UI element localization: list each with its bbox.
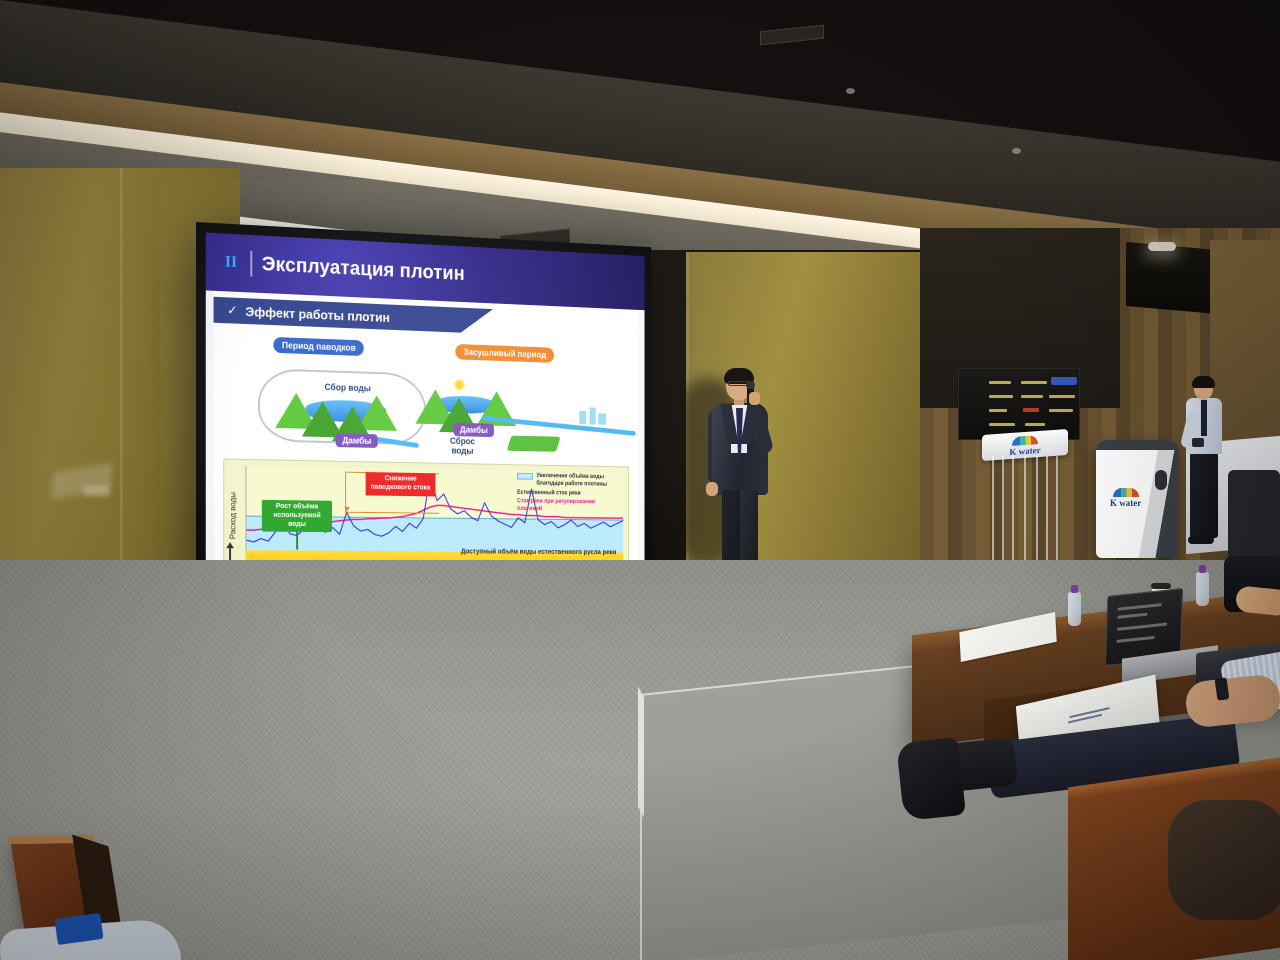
legend-item-natural-flow: Естественный сток реки bbox=[517, 490, 620, 499]
board-entry bbox=[1049, 409, 1073, 412]
board-entry bbox=[1025, 423, 1045, 426]
slide-header-divider bbox=[250, 251, 252, 277]
board-alert bbox=[1023, 408, 1039, 412]
kwater-logo-arc bbox=[1012, 435, 1038, 446]
audience-knee bbox=[1168, 800, 1280, 920]
lectern-legs bbox=[990, 456, 1060, 572]
release-line-2: воды bbox=[452, 446, 474, 456]
board-entry bbox=[1021, 395, 1043, 398]
label-dam-left: Дамбы bbox=[336, 433, 378, 448]
water-bottle bbox=[1068, 592, 1081, 626]
side-chair bbox=[1228, 470, 1280, 560]
laptop-ui-line bbox=[1117, 636, 1155, 643]
air-purifier-top bbox=[1096, 440, 1178, 450]
discharge-chart: Расход воды Снижение паводкового стока Р… bbox=[223, 459, 629, 570]
board-entry bbox=[989, 423, 1015, 426]
pill-flood-period: Период паводков bbox=[273, 337, 364, 356]
legend-swatch-band bbox=[517, 473, 533, 480]
slide-title: Эксплуатация плотин bbox=[262, 253, 465, 285]
conference-room-scene: II Эксплуатация плотин ✓ Эффект работы п… bbox=[0, 0, 1280, 960]
attendee-necktie bbox=[1201, 400, 1207, 436]
board-entry bbox=[989, 409, 1007, 412]
ceiling-light-dot bbox=[846, 88, 855, 94]
chart-legend: Увеличение объёма воды благодаря работе … bbox=[517, 473, 620, 517]
legend-label-dam-increase: Увеличение объёма воды благодаря работе … bbox=[536, 473, 619, 489]
check-icon: ✓ bbox=[227, 302, 238, 318]
board-entry bbox=[1021, 381, 1047, 384]
laptop-ui-line bbox=[1118, 603, 1162, 611]
farmland-icon bbox=[507, 436, 561, 452]
laptop-ui-line bbox=[1117, 613, 1147, 619]
air-purifier-vent bbox=[1155, 470, 1167, 490]
water-bottle bbox=[1196, 572, 1209, 606]
ceiling-vent bbox=[760, 25, 824, 46]
board-entry bbox=[989, 381, 1011, 384]
wall-reflection bbox=[84, 486, 110, 496]
slide-subtitle-text: Эффект работы плотин bbox=[245, 304, 389, 325]
attendee-shoe bbox=[1188, 536, 1214, 544]
presentation-slide: II Эксплуатация плотин ✓ Эффект работы п… bbox=[206, 233, 645, 570]
smartphone-icon bbox=[1192, 438, 1204, 447]
slide-subtitle-banner: ✓ Эффект работы плотин bbox=[214, 297, 493, 334]
slide-illustration: Сбор воды Дамбы Дамбы bbox=[214, 353, 638, 461]
audience-shoe bbox=[896, 737, 966, 821]
label-collect-water: Сбор воды bbox=[325, 382, 371, 393]
board-highlight bbox=[1051, 377, 1077, 385]
screen-surface: II Эксплуатация плотин ✓ Эффект работы п… bbox=[206, 233, 645, 570]
wall-speaker bbox=[1126, 242, 1218, 314]
chart-annotation-available-volume-text: Доступный объём воды естественного русла… bbox=[461, 549, 616, 556]
legend-item-dam-increase: Увеличение объёма воды благодаря работе … bbox=[517, 473, 620, 489]
release-line-1: Сброс bbox=[450, 436, 475, 446]
chart-plot-area: Снижение паводкового стока Рост объёма и… bbox=[246, 466, 624, 553]
chart-annotation-usage-growth: Рост объёма используемой воды bbox=[262, 500, 332, 533]
purifier-brand-label: K water bbox=[1110, 498, 1141, 508]
presenter-hand bbox=[749, 392, 760, 405]
pill-drought-period: Засушливый период bbox=[455, 344, 554, 363]
air-purifier: K water bbox=[1096, 440, 1178, 558]
label-release-water: Сброс воды bbox=[450, 436, 475, 456]
slide-section-badge: II bbox=[221, 252, 240, 273]
sun-icon bbox=[455, 380, 463, 389]
slide-body: ✓ Эффект работы плотин Период паводков З… bbox=[214, 291, 638, 562]
city-block-icon bbox=[579, 411, 586, 424]
label-dam-right: Дамбы bbox=[454, 423, 495, 437]
kwater-logo-arc bbox=[1113, 488, 1139, 497]
chart-flood-reduction-arrow bbox=[344, 507, 350, 512]
board-entry bbox=[1049, 395, 1075, 398]
ceiling-light-dot bbox=[1012, 148, 1021, 154]
stage-edge bbox=[638, 686, 644, 817]
board-entry bbox=[989, 395, 1013, 398]
laptop-ui-line bbox=[1117, 623, 1167, 631]
legend-label-regulated-flow: Сток реки при регулировании плотиной bbox=[517, 499, 620, 515]
city-block-icon bbox=[590, 407, 596, 424]
standing-attendee bbox=[1182, 378, 1226, 550]
legend-label-natural-flow: Естественный сток реки bbox=[517, 490, 581, 498]
presenter-hand bbox=[706, 482, 718, 496]
projection-screen: II Эксплуатация плотин ✓ Эффект работы п… bbox=[196, 222, 651, 582]
chart-annotation-flood-reduction: Снижение паводкового стока bbox=[366, 472, 436, 496]
spotlight bbox=[1148, 242, 1176, 251]
attendee-legs bbox=[1190, 452, 1218, 538]
attendee-hair bbox=[1192, 376, 1215, 388]
city-block-icon bbox=[598, 413, 606, 424]
legend-item-regulated-flow: Сток реки при регулировании плотиной bbox=[517, 499, 620, 515]
